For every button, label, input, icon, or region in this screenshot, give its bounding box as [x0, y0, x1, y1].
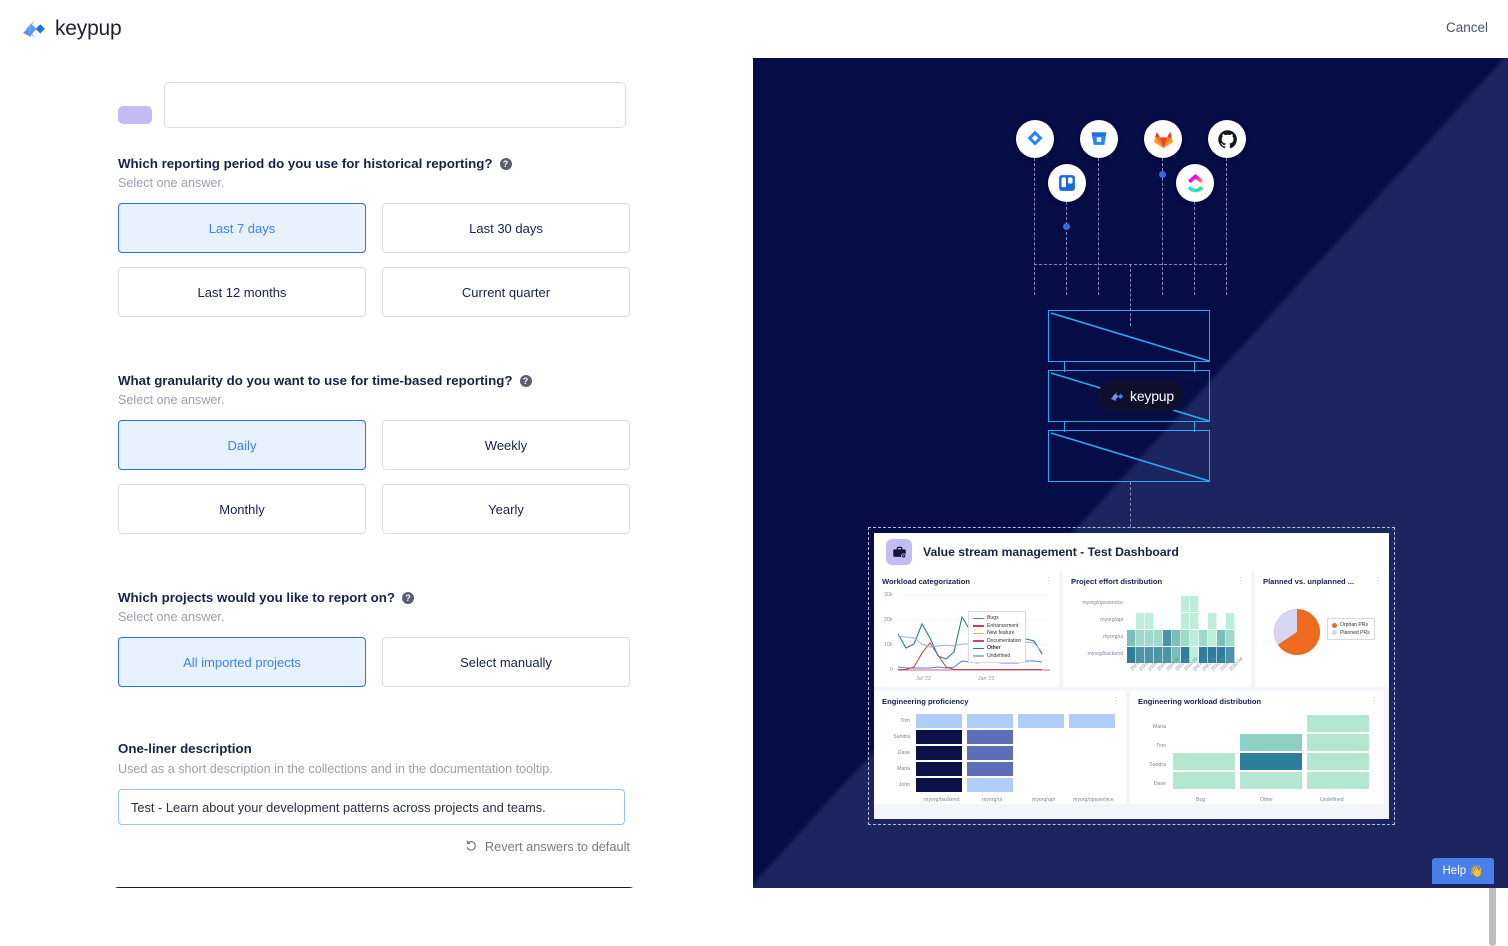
x-label: Bug: [1196, 797, 1205, 803]
widget-title: Engineering proficiency: [882, 698, 1118, 706]
question-subtitle: Select one answer.: [118, 176, 630, 190]
one-liner-description-block: One-liner description Used as a short de…: [118, 741, 630, 825]
widget-engineering-proficiency[interactable]: ⋮ Engineering proficiency Tom Sandra Dav…: [874, 691, 1126, 804]
gitlab-icon[interactable]: [1144, 120, 1182, 158]
option-grid: Daily Weekly Monthly Yearly: [118, 420, 630, 534]
keypup-logo-icon: [18, 14, 48, 44]
question-projects: Which projects would you like to report …: [118, 590, 630, 687]
option-last-12-months[interactable]: Last 12 months: [118, 267, 366, 317]
revert-answers-label: Revert answers to default: [485, 839, 630, 854]
question-reporting-period: Which reporting period do you use for hi…: [118, 156, 630, 317]
chart-body: Orphan PRs Planned PRs: [1263, 586, 1380, 683]
widget-row-top: ⋮ Workload categorization 30k 20k 10k 0 …: [874, 571, 1389, 691]
workload-heatmap-svg: [1172, 712, 1372, 792]
legend-item: Documentation: [973, 638, 1021, 644]
keypup-logo-text: keypup: [55, 17, 122, 41]
y-label: myorg/ui: [1067, 634, 1123, 640]
chart-body: myorg/opsservice myorg/api myorg/ui myor…: [1071, 586, 1243, 683]
y-label: Sandra: [882, 734, 910, 740]
widget-menu-icon[interactable]: ⋮: [1374, 578, 1382, 583]
partial-field-row: [118, 106, 626, 134]
option-current-quarter[interactable]: Current quarter: [382, 267, 630, 317]
y-label: myorg/api: [1067, 617, 1123, 623]
legend-swatch: [973, 618, 984, 619]
trello-icon[interactable]: [1048, 164, 1086, 202]
chart-legend: Bugs Enhancement New feature Documentati…: [968, 611, 1026, 663]
question-granularity: What granularity do you want to use for …: [118, 373, 630, 534]
form-panel: Which reporting period do you use for hi…: [0, 58, 753, 888]
help-icon[interactable]: ?: [520, 375, 532, 387]
option-last-30-days[interactable]: Last 30 days: [382, 203, 630, 253]
bitbucket-icon[interactable]: [1080, 120, 1118, 158]
legend-swatch: [973, 625, 984, 626]
y-label: Maria: [882, 766, 910, 772]
dashboard-card: Value stream management - Test Dashboard…: [874, 533, 1389, 819]
legend-swatch: [1332, 623, 1337, 628]
y-tick: 30k: [884, 592, 892, 598]
connector-node-dot: [1063, 223, 1070, 230]
undo-icon: [465, 840, 478, 853]
keypup-logo[interactable]: keypup: [18, 14, 122, 44]
legend-item: Other: [973, 645, 1021, 651]
y-label: John: [882, 782, 910, 788]
y-tick: 10k: [884, 642, 892, 648]
funnel-box-bottom: [1048, 430, 1210, 482]
keypup-badge-icon: [1108, 388, 1125, 405]
connector-node-dot: [1159, 171, 1166, 178]
x-tick: Jul '22: [916, 676, 931, 682]
y-label: Dave: [1138, 781, 1166, 787]
keypup-badge-text: keypup: [1130, 388, 1174, 404]
widget-menu-icon[interactable]: ⋮: [1045, 578, 1053, 583]
revert-answers-button[interactable]: Revert answers to default: [118, 839, 630, 854]
option-yearly[interactable]: Yearly: [382, 484, 630, 534]
legend-swatch: [1332, 630, 1337, 635]
widget-project-effort-distribution[interactable]: ⋮ Project effort distribution myorg/opss…: [1063, 571, 1251, 687]
widget-engineering-workload-distribution[interactable]: ⋮ Engineering workload distribution Mari…: [1130, 691, 1384, 804]
jira-icon[interactable]: [1016, 120, 1054, 158]
help-label: Help: [1443, 865, 1467, 877]
y-label: Sandra: [1138, 762, 1166, 768]
y-tick: 20k: [884, 617, 892, 623]
option-grid: Last 7 days Last 30 days Last 12 months …: [118, 203, 630, 317]
question-title: Which reporting period do you use for hi…: [118, 156, 630, 171]
widget-planned-vs-unplanned[interactable]: ⋮ Planned vs. unplanned ... Orphan PRs P…: [1255, 571, 1388, 687]
connector-gitlab: [1162, 158, 1163, 295]
connector-jira: [1034, 158, 1035, 295]
option-select-manually[interactable]: Select manually: [382, 637, 630, 687]
dashboard-preview: Value stream management - Test Dashboard…: [868, 527, 1395, 825]
widget-row-bottom: ⋮ Engineering proficiency Tom Sandra Dav…: [874, 691, 1389, 808]
x-label: myorg/backend: [924, 797, 959, 803]
connector-trello: [1066, 202, 1067, 295]
legend-item: Enhancement: [973, 623, 1021, 629]
y-tick: 0: [890, 667, 893, 673]
help-button[interactable]: Help 👋: [1432, 858, 1494, 884]
y-label: myorg/opsservice: [1067, 600, 1123, 606]
chart-body: Maria Tom Sandra Dave: [1138, 706, 1376, 800]
widget-title: Engineering workload distribution: [1138, 698, 1376, 706]
option-monthly[interactable]: Monthly: [118, 484, 366, 534]
question-subtitle: Select one answer.: [118, 393, 630, 407]
widget-title: Planned vs. unplanned ...: [1263, 578, 1380, 586]
form-scrollbar-track[interactable]: [744, 58, 753, 888]
briefcase-icon: [886, 539, 912, 565]
cancel-button[interactable]: Cancel: [1446, 20, 1488, 35]
waving-hand-icon: 👋: [1469, 864, 1483, 878]
chart-legend: Orphan PRs Planned PRs: [1327, 618, 1375, 640]
legend-swatch: [973, 633, 984, 634]
connector-clickup: [1194, 202, 1195, 295]
widget-title: Workload categorization: [882, 578, 1051, 586]
description-hint: Used as a short description in the colle…: [118, 762, 630, 776]
widget-menu-icon[interactable]: ⋮: [1370, 698, 1378, 703]
dashboard-title: Value stream management - Test Dashboard: [923, 545, 1179, 559]
question-subtitle: Select one answer.: [118, 610, 630, 624]
dashboard-name-input[interactable]: [164, 82, 626, 128]
x-label: myorg/api: [1032, 797, 1055, 803]
y-label: Dave: [882, 750, 910, 756]
top-bar: keypup Cancel: [0, 0, 1508, 58]
description-input[interactable]: [118, 789, 625, 825]
legend-swatch: [973, 640, 984, 641]
x-label: myorg/opsservice: [1073, 797, 1114, 803]
option-grid: All imported projects Select manually: [118, 637, 630, 687]
legend-item: Planned PRs: [1332, 630, 1370, 636]
connector-bitbucket: [1098, 158, 1099, 295]
description-label: One-liner description: [118, 741, 630, 756]
preview-panel: keypup Value stream management - Test Da…: [753, 58, 1508, 888]
connector-github: [1226, 158, 1227, 295]
clickup-icon[interactable]: [1176, 164, 1214, 202]
y-label: Tom: [882, 718, 910, 724]
legend-item: Orphan PRs: [1332, 622, 1370, 628]
proficiency-heatmap-svg: [916, 714, 1116, 794]
widget-menu-icon[interactable]: ⋮: [1112, 698, 1120, 703]
option-last-7-days[interactable]: Last 7 days: [118, 203, 366, 253]
legend-item: Bugs: [973, 615, 1021, 621]
dashboard-icon-swatch[interactable]: [118, 106, 152, 124]
option-weekly[interactable]: Weekly: [382, 420, 630, 470]
x-label: Undefined: [1320, 797, 1344, 803]
y-label: Tom: [1138, 743, 1166, 749]
effort-heatmap-svg: [1127, 596, 1239, 664]
legend-item: Undefined: [973, 653, 1021, 659]
legend-item: New feature: [973, 630, 1021, 636]
x-label: myorg/ui: [982, 797, 1002, 803]
option-daily[interactable]: Daily: [118, 420, 366, 470]
help-icon[interactable]: ?: [402, 592, 414, 604]
y-label: myorg/backend: [1067, 651, 1123, 657]
question-title: What granularity do you want to use for …: [118, 373, 630, 388]
pie-chart-svg: [1269, 604, 1325, 660]
y-label: Maria: [1138, 724, 1166, 730]
connector-to-dashboard: [1130, 482, 1131, 527]
funnel-box-top: [1048, 310, 1210, 362]
legend-swatch: [973, 648, 984, 649]
github-icon[interactable]: [1208, 120, 1246, 158]
option-all-imported-projects[interactable]: All imported projects: [118, 637, 366, 687]
legend-swatch: [973, 655, 984, 656]
dashboard-header: Value stream management - Test Dashboard: [874, 533, 1389, 571]
widget-workload-categorization[interactable]: ⋮ Workload categorization 30k 20k 10k 0 …: [874, 571, 1059, 687]
help-icon[interactable]: ?: [500, 158, 512, 170]
widget-title: Project effort distribution: [1071, 578, 1243, 586]
widget-menu-icon[interactable]: ⋮: [1237, 578, 1245, 583]
question-title: Which projects would you like to report …: [118, 590, 630, 605]
x-label: Other: [1260, 797, 1273, 803]
chart-body: Tom Sandra Dave Maria John: [882, 706, 1118, 800]
chart-body: 30k 20k 10k 0 Jul '22 Jan '23: [882, 586, 1051, 683]
x-tick: Jan '23: [978, 676, 995, 682]
keypup-badge: keypup: [1098, 381, 1184, 411]
